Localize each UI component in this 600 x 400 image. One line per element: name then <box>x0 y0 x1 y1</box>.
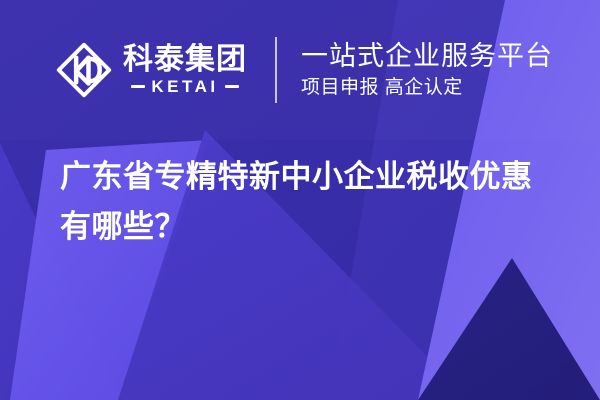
ketai-diamond-monogram-icon <box>56 42 112 98</box>
vertical-divider-icon <box>275 37 277 103</box>
brand-wordmark: 科泰集团 KETAI <box>123 45 247 95</box>
brand-name-cn: 科泰集团 <box>123 45 247 75</box>
promo-banner: 科泰集团 KETAI 一站式企业服务平台 项目申报 高企认定 广东省专精特新中小… <box>0 0 600 400</box>
brand-name-en-row: KETAI <box>123 78 247 95</box>
headline-block: 广东省专精特新中小企业税收优惠 有哪些？ <box>60 152 560 252</box>
headline-line-1: 广东省专精特新中小企业税收优惠 <box>60 152 560 202</box>
tagline-secondary: 项目申报 高企认定 <box>301 77 553 99</box>
headline-line-2: 有哪些？ <box>60 202 560 252</box>
banner-header: 科泰集团 KETAI 一站式企业服务平台 项目申报 高企认定 <box>0 0 600 140</box>
brand-logo[interactable]: 科泰集团 KETAI <box>56 42 247 98</box>
dash-icon <box>225 85 239 88</box>
dash-icon <box>131 85 145 88</box>
tagline-group: 一站式企业服务平台 项目申报 高企认定 <box>301 41 553 99</box>
brand-name-en: KETAI <box>151 78 218 95</box>
tagline-primary: 一站式企业服务平台 <box>301 41 553 71</box>
